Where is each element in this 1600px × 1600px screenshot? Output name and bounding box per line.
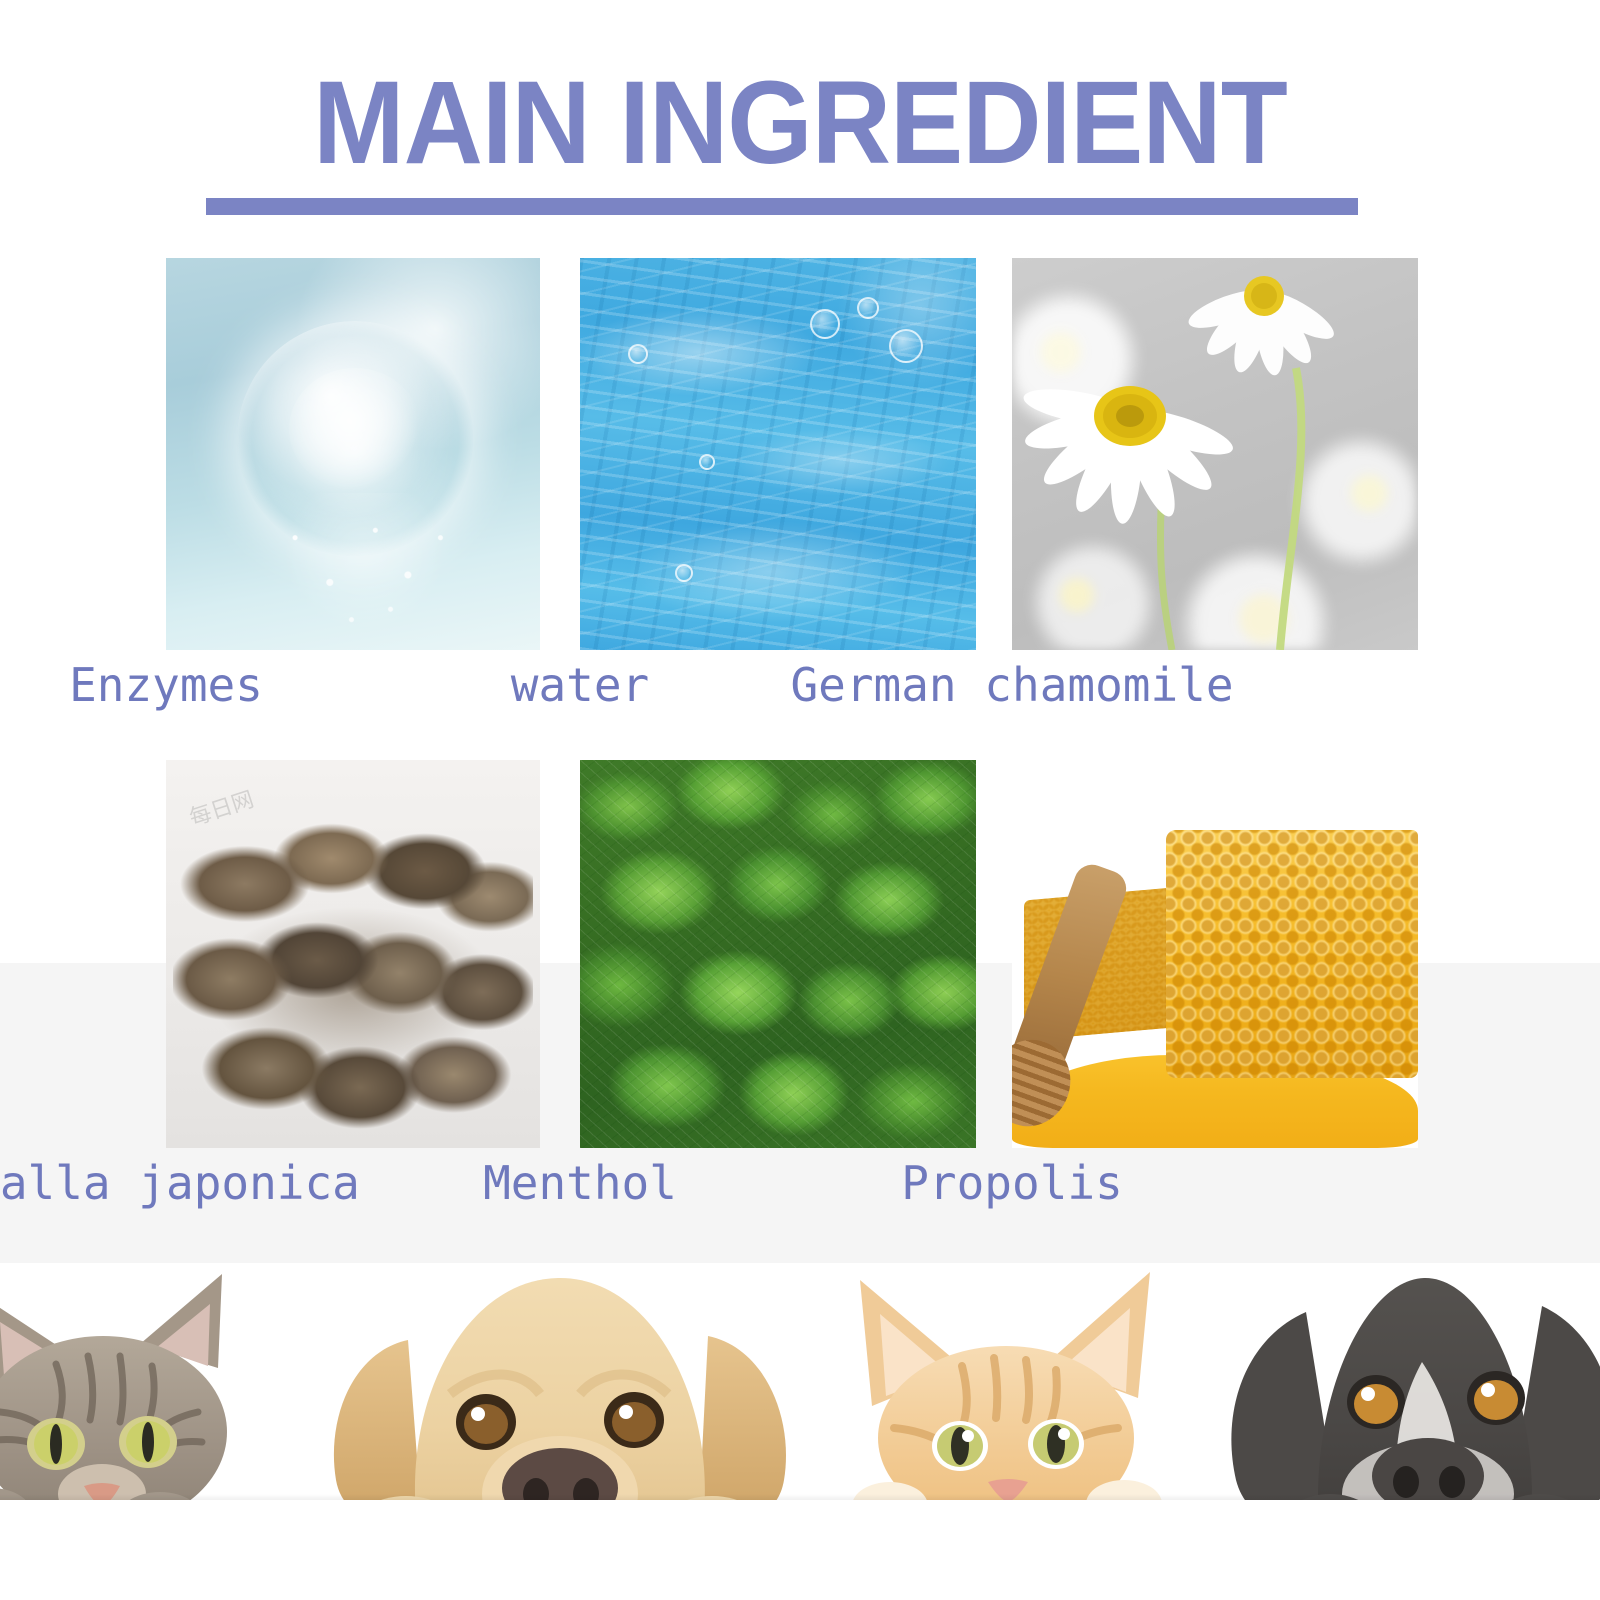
water-surface-image — [580, 258, 976, 650]
enzyme-bubble-image — [166, 258, 540, 650]
honeycomb-honey-image — [1012, 760, 1418, 1148]
white-ledge — [0, 1500, 1600, 1600]
ingredient-label-propolis: Propolis — [901, 1156, 1123, 1210]
animal-ginger-cat — [838, 1240, 1178, 1532]
pet-photo-strip — [0, 1240, 1600, 1600]
ingredient-label-water: water — [511, 658, 649, 712]
ingredient-label-german-chamomile: German chamomile — [790, 658, 1233, 712]
ingredient-label-menthol: Menthol — [483, 1156, 677, 1210]
ingredient-label-enzymes: Enzymes — [69, 658, 263, 712]
chamomile-flower-image — [1012, 258, 1418, 650]
mint-leaves-image — [580, 760, 976, 1148]
ingredient-label-galla-japonica: Galla japonica — [0, 1156, 360, 1210]
ingredient-poster: MAIN INGREDIENT Enzymes — [0, 0, 1600, 1600]
galla-japonica-image: 每日网 — [166, 760, 540, 1148]
